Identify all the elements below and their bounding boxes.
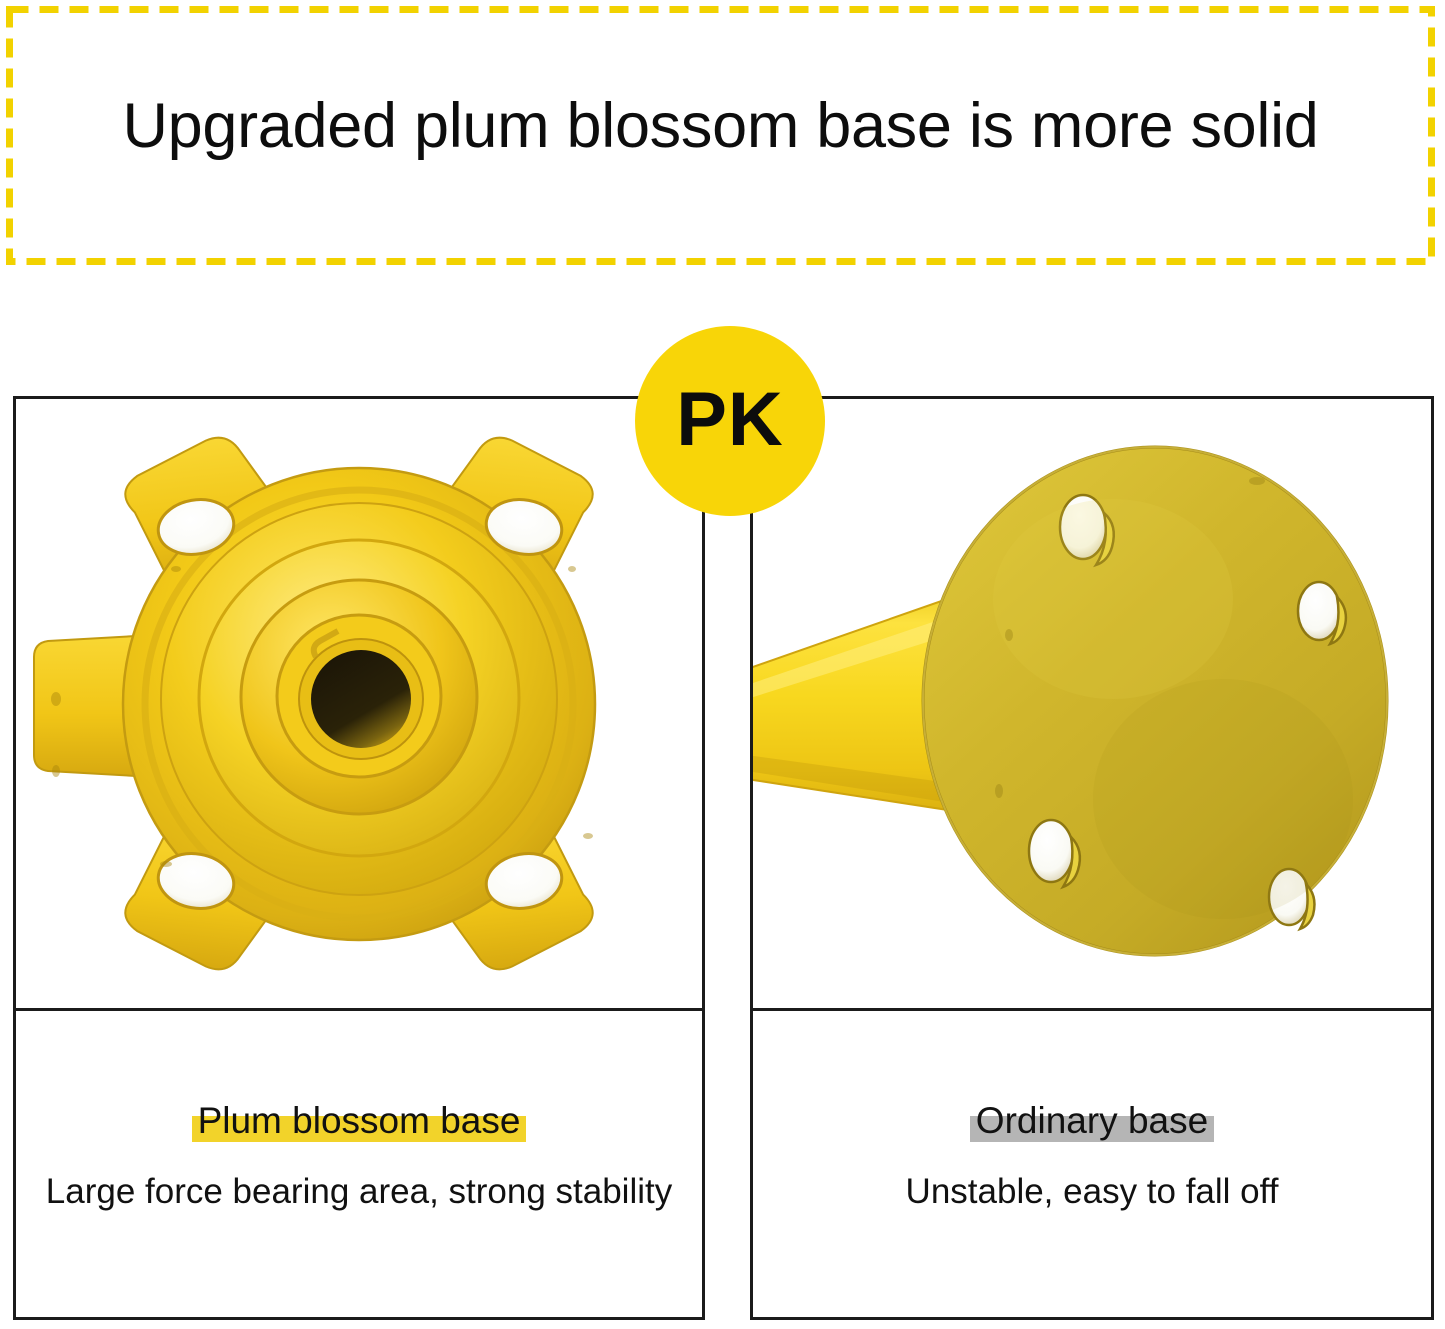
caption-title-ordinary: Ordinary base bbox=[970, 1099, 1214, 1143]
comparison-panel-ordinary: Ordinary base Unstable, easy to fall off bbox=[750, 396, 1434, 1320]
ordinary-base-photo bbox=[753, 399, 1431, 1008]
caption-title-label: Ordinary base bbox=[976, 1100, 1208, 1141]
comparison-panel-plum-blossom: Plum blossom base Large force bearing ar… bbox=[13, 396, 705, 1320]
panel-caption-plum-blossom: Plum blossom base Large force bearing ar… bbox=[16, 1011, 702, 1317]
panel-caption-ordinary: Ordinary base Unstable, easy to fall off bbox=[753, 1011, 1431, 1317]
pk-badge-label: PK bbox=[676, 382, 784, 458]
caption-title-label: Plum blossom base bbox=[198, 1100, 521, 1141]
header-banner: Upgraded plum blossom base is more solid bbox=[6, 6, 1435, 265]
pk-versus-badge: PK bbox=[635, 326, 825, 516]
page-title: Upgraded plum blossom base is more solid bbox=[6, 88, 1435, 164]
caption-subtitle-plum-blossom: Large force bearing area, strong stabili… bbox=[16, 1170, 702, 1214]
comparison-area: Plum blossom base Large force bearing ar… bbox=[0, 300, 1445, 1329]
caption-title-plum-blossom: Plum blossom base bbox=[192, 1099, 527, 1143]
caption-subtitle-ordinary: Unstable, easy to fall off bbox=[753, 1170, 1431, 1214]
plum-blossom-base-photo bbox=[16, 399, 702, 1008]
